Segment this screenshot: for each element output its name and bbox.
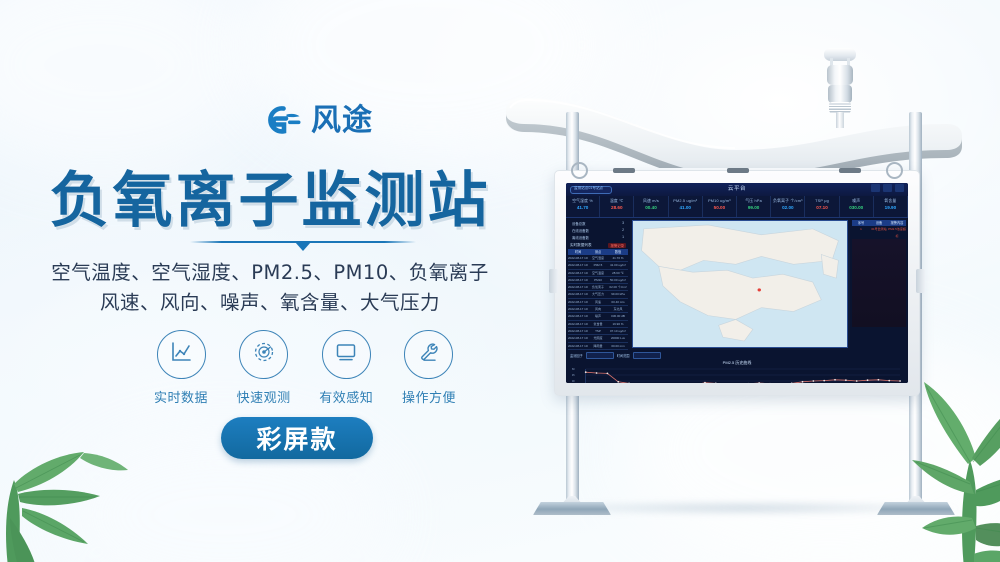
metric-card[interactable]: 负氧离子 个/cm³02.00 (771, 196, 805, 217)
table-cell: 光照度 (588, 335, 608, 341)
data-table-header-bar: 实时数据列表 报警记录 (568, 243, 628, 248)
side-bracket (916, 269, 925, 293)
device-stats-list: 设备总数3在线设备数2离线设备数1 (568, 220, 628, 241)
table-cell: 2022-08-17 10:20:37 (568, 313, 588, 319)
feature-label: 快速观测 (229, 387, 299, 406)
table-cell: 2022-08-17 10:20:37 (568, 299, 588, 305)
hero-subtitle: 空气温度、空气湿度、PM2.5、PM10、负氧离子 风速、风向、噪声、氧含量、大… (0, 258, 540, 318)
metric-card[interactable]: 气压 hPa99.00 (737, 196, 771, 217)
alarm-panel: 序号设备报警内容 101号监测站PM2.5浓度超标 (850, 218, 908, 350)
dashboard-middle: 设备总数3在线设备数2离线设备数1 实时数据列表 报警记录 时间测点数值 202… (566, 218, 908, 350)
chart-toggle-icon[interactable] (871, 184, 880, 192)
table-cell: 20000 Lux (608, 335, 628, 341)
table-cell: 030.00 dB (608, 313, 628, 319)
model-badge-label: 彩屏款 (256, 420, 337, 456)
alarm-row[interactable]: 101号监测站PM2.5浓度超标 (852, 226, 906, 239)
base-plate (533, 502, 611, 515)
table-row[interactable]: 2022-08-17 10:20:37PM1050.00 ug/m³ (568, 277, 628, 284)
table-row[interactable]: 2022-08-17 10:20:37空气温度28.60 ℃ (568, 270, 628, 277)
table-cell: 2022-08-17 10:20:37 (568, 277, 588, 283)
table-row[interactable]: 2022-08-17 10:20:37噪声030.00 dB (568, 313, 628, 320)
metric-card-value: 50.00 (703, 204, 736, 212)
brand-logo: 风途 (262, 104, 373, 138)
svg-text:30: 30 (572, 380, 575, 383)
table-cell: 2022-08-17 10:20:37 (568, 262, 588, 268)
feature-item-easy-operation: 操作方便 (394, 330, 464, 406)
table-row[interactable]: 2022-08-17 10:20:37氧含量19.90 % (568, 321, 628, 328)
table-cell: 东北风 (608, 306, 628, 312)
feature-icon-ring (239, 330, 288, 379)
svg-text:45: 45 (572, 374, 575, 377)
bezel-clamp (839, 168, 861, 173)
chart-filter-bar: 监测因子 时间范围 (570, 352, 904, 359)
metric-card[interactable]: 氧含量19.90 (874, 196, 908, 217)
data-table-title: 实时数据列表 (570, 243, 592, 248)
metric-card[interactable]: 噪声030.00 (840, 196, 874, 217)
svg-text:60: 60 (572, 368, 575, 371)
metric-card[interactable]: 空气湿度 %41.70 (566, 196, 600, 217)
feature-icon-ring (404, 330, 453, 379)
mount-ring-icon (571, 162, 588, 179)
table-cell: 00.00 mm (608, 343, 628, 349)
history-line-chart: 08-1108-1108-1108-1208-1208-1208-1308-13… (570, 366, 904, 383)
device-stat-row: 离线设备数1 (568, 234, 628, 241)
table-cell: 负氧离子 (588, 284, 608, 290)
grid-toggle-icon[interactable] (883, 184, 892, 192)
display-cabinet: 监测站点01号站点 云平台 空气湿度 %41.70温度 ℃28.60风速 m/s… (554, 170, 920, 396)
table-cell: 50.00 ug/m³ (608, 277, 628, 283)
mount-ring-icon (886, 162, 903, 179)
subtitle-line-2: 风速、风向、噪声、氧含量、大气压力 (0, 288, 540, 318)
brand-name: 风途 (311, 106, 373, 136)
feature-label: 有效感知 (311, 387, 381, 406)
table-row[interactable]: 2022-08-17 10:20:37空气湿度41.70 % (568, 255, 628, 262)
device-stat-label: 离线设备数 (572, 235, 589, 240)
table-cell: 2022-08-17 10:20:37 (568, 255, 588, 261)
sensor-cap (824, 48, 856, 61)
table-cell: 2022-08-17 10:20:37 (568, 328, 588, 334)
foliage-right (910, 378, 1000, 562)
table-cell: 噪声 (588, 313, 608, 319)
device-stat-value: 2 (622, 228, 624, 233)
metric-card[interactable]: PM10 ug/m³50.00 (703, 196, 737, 217)
table-cell: 2022-08-17 10:20:37 (568, 284, 588, 290)
station-selector[interactable]: 监测站点01号站点 (570, 186, 612, 194)
map-panel[interactable] (632, 220, 848, 348)
table-row[interactable]: 2022-08-17 10:20:37光照度20000 Lux (568, 335, 628, 342)
table-row[interactable]: 2022-08-17 10:20:37大气压力99.00 kPa (568, 291, 628, 298)
table-cell: PM10 (588, 277, 608, 283)
device-stat-value: 3 (622, 221, 624, 226)
chart-factor-select[interactable] (586, 352, 614, 359)
chart-range-select[interactable] (633, 352, 661, 359)
table-cell: 氧含量 (588, 321, 608, 327)
feature-icon-ring (322, 330, 371, 379)
table-cell: 空气温度 (588, 270, 608, 276)
dashboard-header-icons (871, 184, 904, 192)
table-row[interactable]: 2022-08-17 10:20:37PM2.541.00 ug/m³ (568, 262, 628, 269)
base-plate-left (533, 496, 611, 516)
table-cell: 28.60 ℃ (608, 270, 628, 276)
metric-card-value: 00.40 (634, 204, 667, 212)
device-stats-panel: 设备总数3在线设备数2离线设备数1 实时数据列表 报警记录 时间测点数值 202… (566, 218, 630, 350)
table-row[interactable]: 2022-08-17 10:20:37负氧离子02.00 个/cm³ (568, 284, 628, 291)
lcd-screen[interactable]: 监测站点01号站点 云平台 空气湿度 %41.70温度 ℃28.60风速 m/s… (566, 183, 908, 383)
table-cell: 2022-08-17 10:20:37 (568, 291, 588, 297)
side-bracket (549, 269, 558, 293)
metric-card-value: 99.00 (737, 204, 770, 212)
table-cell: 降雨量 (588, 343, 608, 349)
bezel-clamp (727, 168, 749, 173)
table-cell: 41.70 % (608, 255, 628, 261)
ultrasonic-weather-sensor-icon (820, 48, 860, 126)
table-cell: 2022-08-17 10:20:37 (568, 306, 588, 312)
alarm-records-tag[interactable]: 报警记录 (608, 243, 626, 248)
settings-icon[interactable] (895, 184, 904, 192)
table-cell: 00.40 m/s (608, 299, 628, 305)
metric-card-value: 030.00 (840, 204, 873, 212)
title-divider (190, 238, 416, 252)
table-cell: 99.00 kPa (608, 291, 628, 297)
data-table-body: 2022-08-17 10:20:37空气湿度41.70 %2022-08-17… (568, 255, 628, 350)
alarm-table-body: 101号监测站PM2.5浓度超标 (852, 226, 906, 239)
sensor-body-lower (828, 85, 852, 103)
dashboard-header: 监测站点01号站点 云平台 (566, 183, 908, 196)
wrench-icon (416, 339, 442, 370)
sensor-mount-stem (836, 112, 844, 128)
metric-card-value: 19.90 (874, 204, 907, 212)
monitor-screen-icon (333, 339, 359, 370)
table-row[interactable]: 2022-08-17 10:20:37风向东北风 (568, 306, 628, 313)
table-cell: 大气压力 (588, 291, 608, 297)
table-cell: 02.00 个/cm³ (608, 284, 628, 290)
history-chart-panel: 监测因子 时间范围 PM2.5 历史曲线 08-1108-1108-1108-1… (566, 350, 908, 383)
metric-card-value: 41.00 (669, 204, 702, 212)
promo-banner: 风途 负氧离子监测站 空气温度、空气湿度、PM2.5、PM10、负氧离子 风速、… (0, 0, 1000, 562)
chart-filter-label-2: 时间范围 (617, 353, 630, 358)
table-row[interactable]: 2022-08-17 10:20:37TSP07.10 ug/m³ (568, 328, 628, 335)
device-stat-row: 在线设备数2 (568, 227, 628, 234)
model-badge[interactable]: 彩屏款 (221, 417, 373, 459)
table-cell: TSP (588, 328, 608, 334)
dashboard-title: 云平台 (728, 184, 746, 192)
metric-card[interactable]: 风速 m/s00.40 (634, 196, 668, 217)
metric-card-row: 空气湿度 %41.70温度 ℃28.60风速 m/s00.40PM2.5 ug/… (566, 196, 908, 218)
device-stat-value: 1 (622, 235, 624, 240)
device-stat-row: 设备总数3 (568, 220, 628, 227)
radar-scan-icon (251, 339, 277, 370)
subtitle-line-1: 空气温度、空气湿度、PM2.5、PM10、负氧离子 (0, 258, 540, 288)
metric-card[interactable]: TSP μg07.10 (805, 196, 839, 217)
feature-label: 操作方便 (394, 387, 464, 406)
alarm-cell: 01号监测站 (870, 226, 888, 239)
table-cell: PM2.5 (588, 262, 608, 268)
chart-filter-label-1: 监测因子 (570, 353, 583, 358)
bezel-clamp (613, 168, 635, 173)
device-stat-label: 在线设备数 (572, 228, 589, 233)
metric-card[interactable]: 温度 ℃28.60 (600, 196, 634, 217)
table-cell: 07.10 ug/m³ (608, 328, 628, 334)
table-cell: 2022-08-17 10:20:37 (568, 335, 588, 341)
alarm-cell: PM2.5浓度超标 (888, 226, 906, 239)
table-cell: 风速 (588, 299, 608, 305)
feature-icon-ring (157, 330, 206, 379)
sensor-body-upper (827, 65, 853, 85)
table-cell: 2022-08-17 10:20:37 (568, 270, 588, 276)
divider-triangle-icon (295, 242, 311, 251)
feature-item-effective-sensing: 有效感知 (311, 330, 381, 406)
metric-card[interactable]: PM2.5 ug/m³41.00 (669, 196, 703, 217)
foliage-left (0, 392, 178, 562)
alarm-cell: 1 (852, 226, 870, 239)
metric-card-value: 41.70 (566, 204, 599, 212)
table-cell: 空气湿度 (588, 255, 608, 261)
table-cell: 2022-08-17 10:20:37 (568, 321, 588, 327)
feature-list: 实时数据 快速观测 (146, 330, 464, 406)
feature-item-fast-observation: 快速观测 (229, 330, 299, 406)
table-cell: 19.90 % (608, 321, 628, 327)
page-title: 负氧离子监测站 (0, 152, 540, 239)
wind-leaf-g-logo-icon (262, 104, 304, 138)
metric-card-value: 02.00 (771, 204, 804, 212)
camera-feed-placeholder (852, 239, 906, 327)
table-cell: 2022-08-17 10:20:37 (568, 343, 588, 349)
device-stat-label: 设备总数 (572, 221, 586, 226)
table-cell: 风向 (588, 306, 608, 312)
station-selector-label: 监测站点01号站点 (574, 186, 603, 191)
table-row[interactable]: 2022-08-17 10:20:37风速00.40 m/s (568, 299, 628, 306)
metric-card-value: 28.60 (600, 204, 633, 212)
line-chart-icon (168, 339, 194, 370)
metric-card-value: 07.10 (805, 204, 838, 212)
table-cell: 41.00 ug/m³ (608, 262, 628, 268)
table-row[interactable]: 2022-08-17 10:20:37降雨量00.00 mm (568, 343, 628, 350)
